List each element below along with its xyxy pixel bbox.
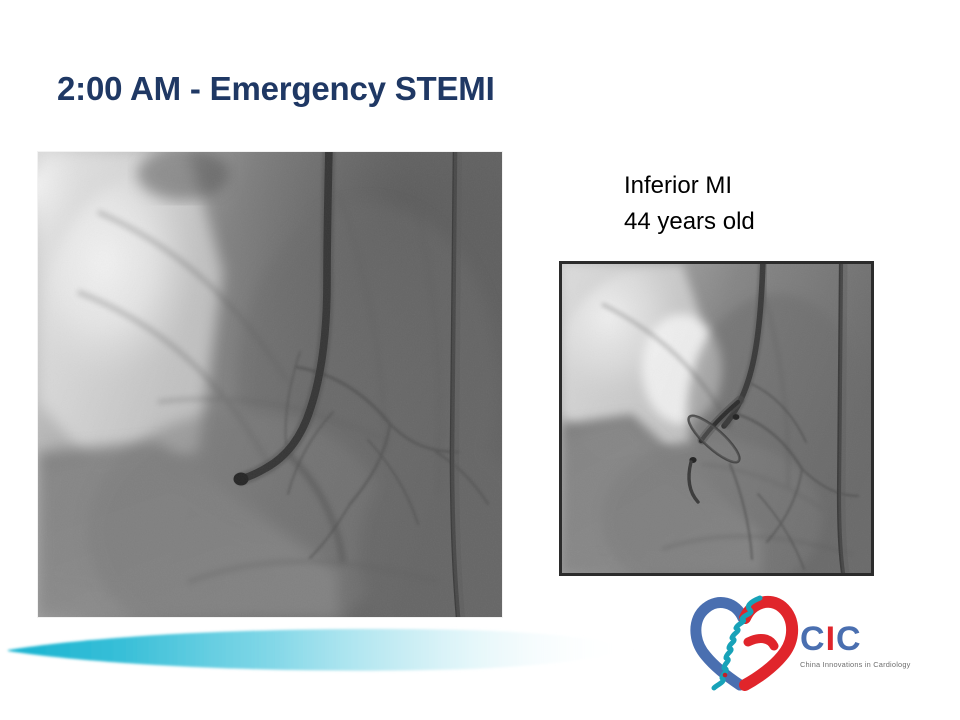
cic-letter-i: I bbox=[826, 620, 836, 658]
coronary-angiogram-inset bbox=[559, 261, 874, 576]
angiogram-main-graphic bbox=[38, 152, 502, 617]
decorative-swoosh bbox=[0, 624, 640, 676]
page-title: 2:00 AM - Emergency STEMI bbox=[57, 70, 857, 108]
cic-letter-c1: C bbox=[800, 620, 826, 658]
body-text-line-diagnosis: Inferior MI bbox=[624, 168, 924, 204]
angiogram-inset-graphic bbox=[562, 264, 871, 573]
cic-tagline: China Innovations in Cardiology bbox=[800, 660, 904, 669]
slide-canvas: 2:00 AM - Emergency STEMI bbox=[0, 0, 960, 720]
body-text-block: Inferior MI 44 years old bbox=[624, 168, 924, 240]
cic-wordmark: CIC China Innovations in Cardiology bbox=[800, 622, 904, 669]
cic-logo: CIC China Innovations in Cardiology bbox=[688, 592, 904, 696]
cic-letter-c2: C bbox=[836, 620, 862, 658]
cic-letters: CIC bbox=[800, 622, 904, 656]
heart-logo-icon bbox=[688, 592, 800, 692]
coronary-angiogram-main bbox=[38, 152, 502, 617]
body-text-line-age: 44 years old bbox=[624, 204, 924, 240]
